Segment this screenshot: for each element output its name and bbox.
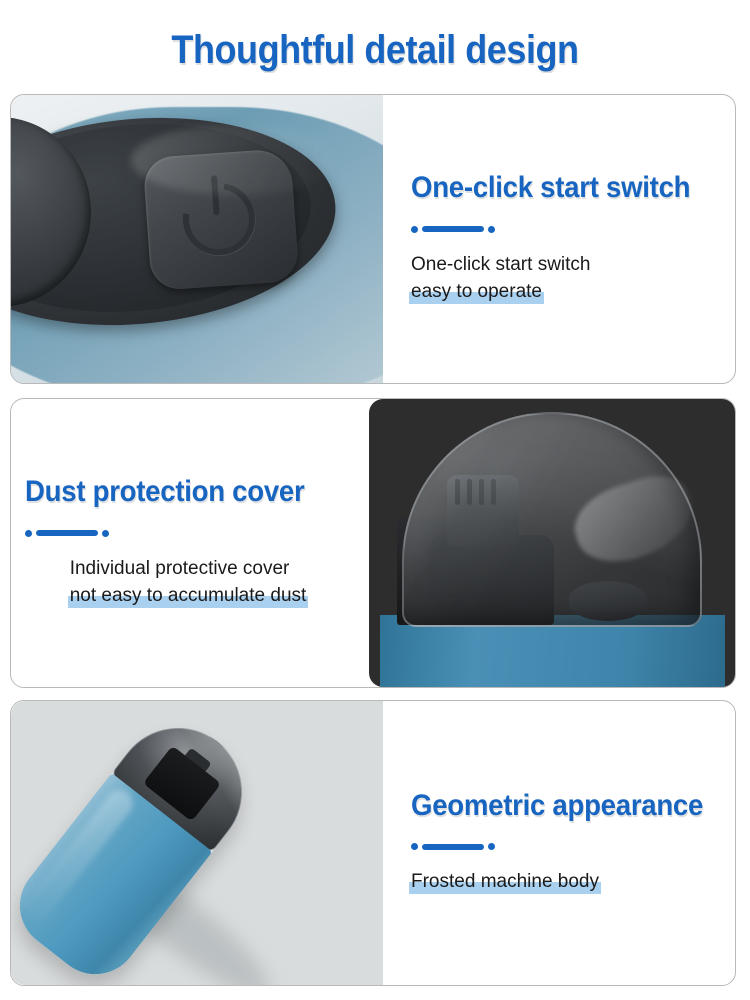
divider-dot-right xyxy=(488,843,495,850)
feature-body-line-highlighted: Frosted machine body xyxy=(411,868,599,896)
feature-text-block: Geometric appearance Frosted machine bod… xyxy=(383,701,736,985)
feature-body-line: Individual protective cover xyxy=(70,555,290,583)
feature-heading: Geometric appearance xyxy=(411,790,703,822)
feature-card-geometric-appearance: Geometric appearance Frosted machine bod… xyxy=(10,700,736,986)
dot-bar-dot-divider xyxy=(411,226,495,233)
feature-body-line-highlighted: easy to operate xyxy=(411,278,542,306)
feature-body: Frosted machine body xyxy=(411,868,599,896)
feature-body: One-click start switch easy to operate xyxy=(411,251,590,306)
dot-bar-dot-divider xyxy=(25,530,109,537)
body-gloss xyxy=(19,785,138,927)
highlight-glare xyxy=(131,125,341,195)
feature-heading: Dust protection cover xyxy=(25,476,325,508)
feature-body-line-highlighted: not easy to accumulate dust xyxy=(70,582,307,610)
feature-body: Individual protective cover not easy to … xyxy=(70,555,307,610)
feature-card-dust-protection-cover: Dust protection cover Individual protect… xyxy=(10,398,736,688)
dot-bar-dot-divider xyxy=(411,843,495,850)
divider-dot-left xyxy=(25,530,32,537)
page-title: Thoughtful detail design xyxy=(38,0,713,70)
full-device-photo xyxy=(11,701,383,985)
feature-heading: One-click start switch xyxy=(411,172,693,204)
power-button-closeup-photo xyxy=(11,95,383,383)
divider-dot-left xyxy=(411,843,418,850)
dust-cover-dome-photo xyxy=(369,399,735,687)
feature-text-block: One-click start switch One-click start s… xyxy=(383,95,735,383)
feature-card-one-click-start-switch: One-click start switch One-click start s… xyxy=(10,94,736,384)
feature-text-block: Dust protection cover Individual protect… xyxy=(11,399,369,687)
divider-dot-left xyxy=(411,226,418,233)
divider-bar xyxy=(422,844,484,850)
divider-bar xyxy=(422,226,484,232)
divider-dot-right xyxy=(102,530,109,537)
feature-body-line: One-click start switch xyxy=(411,251,590,279)
divider-bar xyxy=(36,530,98,536)
divider-dot-right xyxy=(488,226,495,233)
